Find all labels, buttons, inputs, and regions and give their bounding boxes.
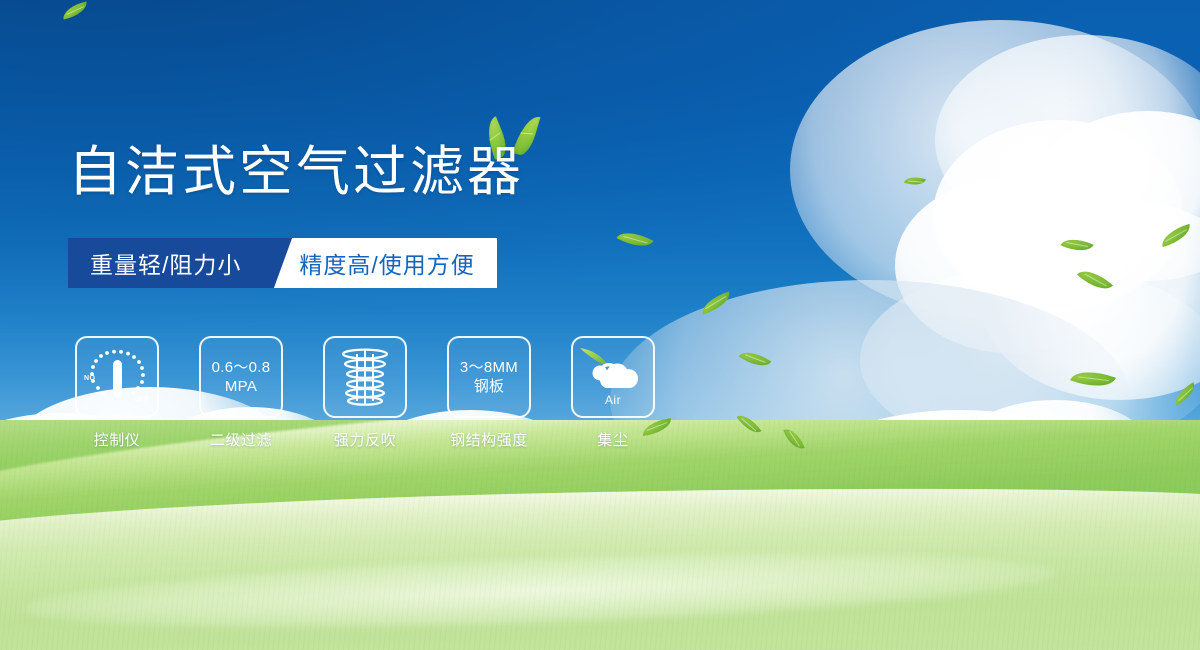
leaf-float-2-icon	[699, 291, 734, 314]
feature-text-line1: 3～8MM	[460, 358, 518, 377]
feature-item-controller[interactable]: NO OFF 控制仪	[76, 336, 158, 450]
leaf-float-6-icon	[1077, 263, 1113, 298]
leaf-float-5-icon	[1159, 224, 1194, 247]
feature-caption: 钢结构强度	[450, 429, 528, 450]
feature-caption: 二级过滤	[210, 429, 272, 450]
leaf-float-7-icon	[1070, 363, 1116, 394]
leaf-float-3-icon	[739, 345, 772, 373]
leaf-float-10-icon	[737, 410, 762, 438]
subtitle-right-text: 精度高/使用方便	[299, 246, 474, 280]
gauge-label-no: NO	[84, 375, 95, 382]
feature-list: NO OFF 控制仪 0.6～0.8 MPA 二级过滤	[76, 336, 654, 450]
feature-caption: 控制仪	[94, 429, 141, 450]
gauge-needle-icon	[113, 360, 122, 398]
feature-text-line2: MPA	[225, 377, 257, 396]
product-banner: 自洁式空气过滤器 重量轻/阻力小 精度高/使用方便	[0, 0, 1200, 650]
feature-icon-box	[323, 336, 407, 418]
feature-icon-box: 0.6～0.8 MPA	[199, 336, 283, 418]
leaf-float-8-icon	[1171, 382, 1200, 405]
leaf-layer	[0, 0, 1200, 650]
feature-icon-box: NO OFF	[75, 336, 159, 418]
filter-stack-glyph	[339, 347, 391, 407]
leaf-float-12-icon	[904, 173, 926, 189]
feature-caption: 强力反吹	[334, 429, 396, 450]
gauge-icon: NO OFF	[84, 347, 150, 407]
feature-icon-box: 3～8MM 钢板	[447, 336, 531, 418]
air-label: Air	[578, 393, 648, 407]
subtitle-segment-right: 精度高/使用方便	[269, 238, 496, 288]
leaf-float-11-icon	[783, 425, 804, 452]
feature-caption: 集尘	[597, 429, 628, 450]
subtitle-left-text: 重量轻/阻力小	[90, 246, 241, 280]
feature-text-line1: 0.6～0.8	[212, 358, 271, 377]
filter-stack-icon	[339, 347, 391, 407]
subtitle-bar: 重量轻/阻力小 精度高/使用方便	[68, 238, 497, 288]
leaf-topleft-icon	[61, 1, 89, 19]
feature-text-line2: 钢板	[474, 377, 505, 396]
leaf-float-4-icon	[1060, 233, 1093, 258]
feature-item-dust-collection[interactable]: Air 集尘	[572, 336, 654, 450]
feature-item-backblow[interactable]: 强力反吹	[324, 336, 406, 450]
leaf-float-1-icon	[616, 225, 653, 254]
feature-item-steel-strength[interactable]: 3～8MM 钢板 钢结构强度	[448, 336, 530, 450]
feature-icon-box: Air	[571, 336, 655, 418]
gauge-label-off: OFF	[134, 396, 149, 403]
air-cloud-icon: Air	[578, 346, 648, 408]
feature-item-secondary-filter[interactable]: 0.6～0.8 MPA 二级过滤	[200, 336, 282, 450]
subtitle-segment-left: 重量轻/阻力小	[68, 238, 267, 288]
banner-title: 自洁式空气过滤器	[68, 142, 524, 202]
